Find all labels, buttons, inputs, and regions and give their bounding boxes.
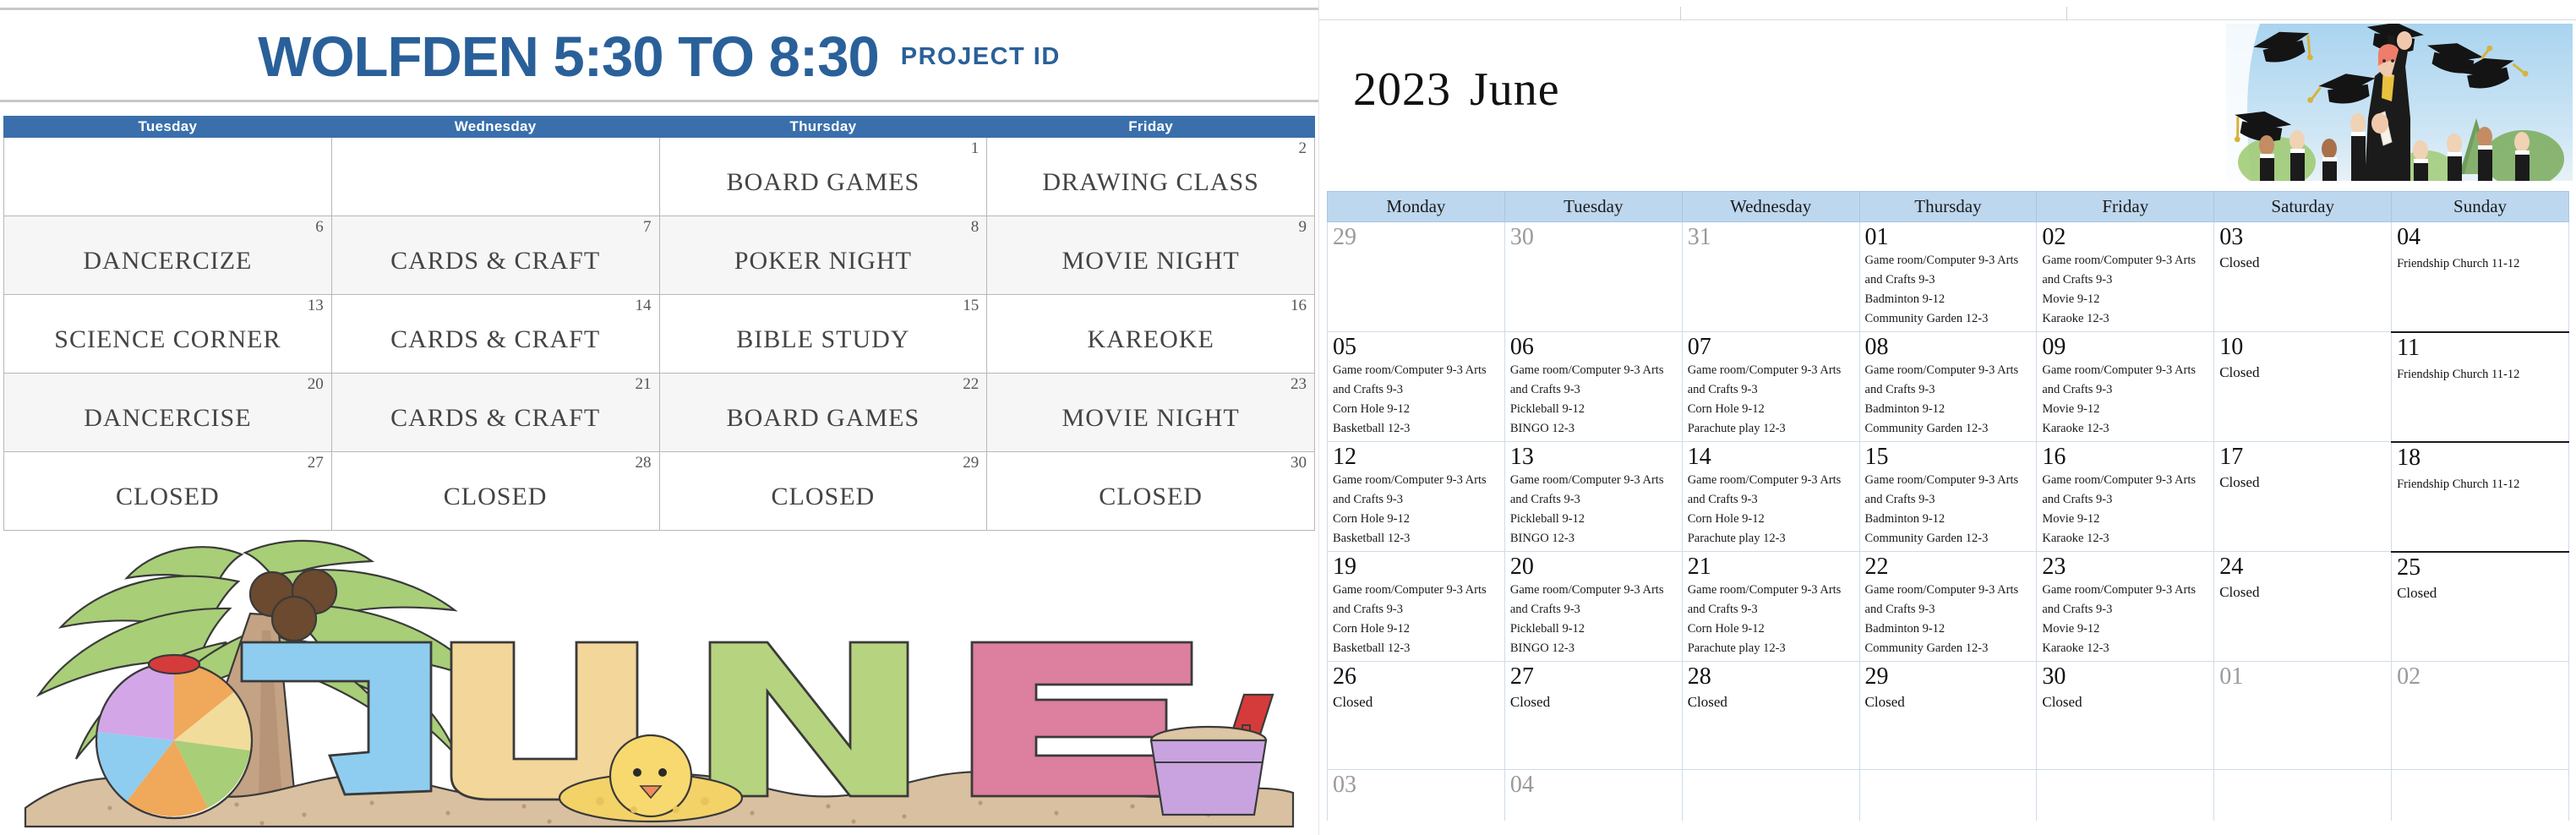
calendar-header-wednesday: Wednesday [1682, 192, 1859, 222]
calendar-day-cell[interactable]: 22Game room/Computer 9-3 Arts and Crafts… [1859, 552, 2037, 662]
activity-label: KAREOKE [987, 325, 1314, 354]
closed-label: Closed [2042, 694, 2208, 711]
calendar-week-row: 05Game room/Computer 9-3 Arts and Crafts… [1328, 332, 2569, 442]
calendar-header-saturday: Saturday [2214, 192, 2392, 222]
day-number: 2 [1299, 140, 1307, 156]
event-text: Movie 9-12 [2042, 619, 2208, 639]
event-text: Basketball 12-3 [1333, 639, 1499, 658]
day-number: 01 [2219, 664, 2386, 689]
day-cell[interactable]: 9MOVIE NIGHT [987, 216, 1315, 295]
event-text: Game room/Computer 9-3 Arts and Crafts 9… [1865, 471, 2032, 510]
day-number: 18 [2397, 445, 2563, 470]
activity-label: CARDS & CRAFT [332, 404, 659, 433]
day-cell[interactable]: 23MOVIE NIGHT [987, 374, 1315, 452]
event-text: Game room/Computer 9-3 Arts and Crafts 9… [1688, 471, 1854, 510]
day-cell[interactable]: 14CARDS & CRAFT [331, 295, 659, 374]
calendar-day-cell[interactable]: 30 [1504, 222, 1682, 332]
calendar-day-cell[interactable] [2214, 770, 2392, 821]
day-number: 25 [2397, 555, 2563, 580]
column-header-tuesday: Tuesday [4, 117, 332, 138]
event-note: Friendship Church 11-12 [2397, 257, 2563, 271]
event-text: Game room/Computer 9-3 Arts and Crafts 9… [1865, 361, 2032, 400]
day-number: 20 [1510, 554, 1677, 579]
day-number: 9 [1299, 219, 1307, 235]
day-cell[interactable]: 15BIBLE STUDY [659, 295, 987, 374]
sand-bucket-icon [1151, 695, 1273, 815]
calendar-week-row: 19Game room/Computer 9-3 Arts and Crafts… [1328, 552, 2569, 662]
day-number: 16 [1291, 297, 1307, 314]
event-text: Karaoke 12-3 [2042, 639, 2208, 658]
document-page: WOLFDEN 5:30 TO 8:30 PROJECT ID Tuesday … [0, 0, 2576, 835]
day-cell[interactable]: 6DANCERCIZE [4, 216, 332, 295]
day-number: 03 [2219, 225, 2386, 249]
day-number: 16 [2042, 445, 2208, 469]
event-text: Game room/Computer 9-3 Arts and Crafts 9… [1333, 361, 1499, 400]
activity-label: SCIENCE CORNER [4, 325, 331, 354]
flyer-title-row: WOLFDEN 5:30 TO 8:30 PROJECT ID [0, 19, 1318, 95]
event-text: Corn Hole 9-12 [1333, 510, 1499, 529]
day-number: 12 [1333, 445, 1499, 469]
calendar-day-cell[interactable]: 02Game room/Computer 9-3 Arts and Crafts… [2037, 222, 2214, 332]
event-text: Community Garden 12-3 [1865, 529, 2032, 548]
calendar-header-tuesday: Tuesday [1504, 192, 1682, 222]
calendar-day-cell[interactable] [1859, 770, 2037, 821]
day-number: 17 [2219, 445, 2386, 469]
closed-label: Closed [1688, 694, 1854, 711]
calendar-header-row: Monday Tuesday Wednesday Thursday Friday… [1328, 192, 2569, 222]
calendar-day-cell[interactable]: 06Game room/Computer 9-3 Arts and Crafts… [1504, 332, 1682, 442]
day-number: 01 [1865, 225, 2032, 249]
calendar-day-cell[interactable] [2037, 770, 2214, 821]
calendar-day-cell[interactable]: 07Game room/Computer 9-3 Arts and Crafts… [1682, 332, 1859, 442]
event-text: Karaoke 12-3 [2042, 309, 2208, 329]
day-number: 26 [1333, 664, 1499, 689]
event-text: Community Garden 12-3 [1865, 419, 2032, 439]
day-number: 11 [2397, 336, 2563, 360]
day-number: 06 [1510, 335, 1677, 359]
calendar-day-cell[interactable]: 30Closed [2037, 662, 2214, 770]
calendar-day-cell[interactable] [2392, 770, 2569, 821]
table-row: 6DANCERCIZE 7CARDS & CRAFT 8POKER NIGHT … [4, 216, 1315, 295]
event-text: Parachute play 12-3 [1688, 529, 1854, 548]
day-number: 31 [1688, 225, 1854, 249]
day-number: 10 [2219, 335, 2386, 359]
event-text: Game room/Computer 9-3 Arts and Crafts 9… [2042, 471, 2208, 510]
event-text: Pickleball 9-12 [1510, 400, 1677, 419]
table-row: 20DANCERCISE 21CARDS & CRAFT 22BOARD GAM… [4, 374, 1315, 452]
day-cell[interactable]: 27CLOSED [4, 452, 332, 531]
event-text: Movie 9-12 [2042, 510, 2208, 529]
day-number: 8 [971, 219, 980, 235]
calendar-header-thursday: Thursday [1859, 192, 2037, 222]
day-cell[interactable]: 29CLOSED [659, 452, 987, 531]
day-number: 6 [315, 219, 324, 235]
day-number: 14 [1688, 445, 1854, 469]
event-text: Karaoke 12-3 [2042, 529, 2208, 548]
calendar-day-cell[interactable]: 09Game room/Computer 9-3 Arts and Crafts… [2037, 332, 2214, 442]
event-text: Movie 9-12 [2042, 290, 2208, 309]
calendar-day-cell[interactable] [1682, 770, 1859, 821]
activity-label: MOVIE NIGHT [987, 404, 1314, 433]
calendar-day-cell[interactable]: 11Friendship Church 11-12 [2392, 332, 2569, 442]
grid-line [2066, 7, 2067, 20]
event-text: Parachute play 12-3 [1688, 639, 1854, 658]
day-number: 28 [636, 455, 652, 471]
calendar-header-friday: Friday [2037, 192, 2214, 222]
event-note: Friendship Church 11-12 [2397, 368, 2563, 382]
table-row: 1BOARD GAMES 2DRAWING CLASS [4, 138, 1315, 216]
calendar-day-cell[interactable]: 17Closed [2214, 442, 2392, 552]
june-beach-illustration [8, 529, 1314, 833]
event-text: Badminton 9-12 [1865, 290, 2032, 309]
day-number: 03 [1333, 772, 1499, 797]
day-number: 14 [636, 297, 652, 314]
calendar-day-cell[interactable]: 19Game room/Computer 9-3 Arts and Crafts… [1328, 552, 1505, 662]
closed-label: Closed [1333, 694, 1499, 711]
event-text: BINGO 12-3 [1510, 529, 1677, 548]
day-number: 13 [1510, 445, 1677, 469]
graduation-caps-image [2226, 24, 2573, 181]
event-text: Game room/Computer 9-3 Arts and Crafts 9… [1865, 581, 2032, 619]
activity-label: CARDS & CRAFT [332, 247, 659, 276]
day-number: 04 [1510, 772, 1677, 797]
activity-label: CLOSED [332, 483, 659, 511]
calendar-day-cell[interactable]: 27Closed [1504, 662, 1682, 770]
day-number: 28 [1688, 664, 1854, 689]
bottom-divider-rule [0, 100, 1318, 102]
day-number: 30 [2042, 664, 2208, 689]
day-number: 09 [2042, 335, 2208, 359]
day-cell[interactable]: 13SCIENCE CORNER [4, 295, 332, 374]
left-flyer-panel: WOLFDEN 5:30 TO 8:30 PROJECT ID Tuesday … [0, 0, 1318, 835]
june-2023-calendar: Monday Tuesday Wednesday Thursday Friday… [1327, 191, 2569, 821]
calendar-day-cell[interactable]: 25Closed [2392, 552, 2569, 662]
calendar-day-cell[interactable]: 21Game room/Computer 9-3 Arts and Crafts… [1682, 552, 1859, 662]
day-number: 27 [1510, 664, 1677, 689]
event-text: Badminton 9-12 [1865, 510, 2032, 529]
day-number: 7 [643, 219, 652, 235]
day-number: 21 [636, 376, 652, 392]
day-number: 15 [963, 297, 979, 314]
event-text: Parachute play 12-3 [1688, 419, 1854, 439]
closed-label: Closed [1510, 694, 1677, 711]
day-number: 29 [1333, 225, 1499, 249]
day-number: 05 [1333, 335, 1499, 359]
day-number: 04 [2397, 225, 2563, 249]
event-text: Game room/Computer 9-3 Arts and Crafts 9… [2042, 361, 2208, 400]
calendar-month: June [1470, 63, 1560, 116]
calendar-header-sunday: Sunday [2392, 192, 2569, 222]
event-text: Game room/Computer 9-3 Arts and Crafts 9… [2042, 581, 2208, 619]
day-number: 30 [1510, 225, 1677, 249]
day-number: 21 [1688, 554, 1854, 579]
table-row: 27CLOSED 28CLOSED 29CLOSED 30CLOSED [4, 452, 1315, 531]
page-subtitle: PROJECT ID [901, 43, 1061, 71]
calendar-day-cell[interactable]: 20Game room/Computer 9-3 Arts and Crafts… [1504, 552, 1682, 662]
calendar-day-cell[interactable]: 24Closed [2214, 552, 2392, 662]
event-text: Corn Hole 9-12 [1688, 400, 1854, 419]
table-row: 13SCIENCE CORNER 14CARDS & CRAFT 15BIBLE… [4, 295, 1315, 374]
day-cell[interactable]: 16KAREOKE [987, 295, 1315, 374]
calendar-day-cell[interactable]: 14Game room/Computer 9-3 Arts and Crafts… [1682, 442, 1859, 552]
calendar-day-cell[interactable]: 10Closed [2214, 332, 2392, 442]
activity-label: BIBLE STUDY [660, 325, 987, 354]
day-number: 24 [2219, 554, 2386, 579]
closed-label: Closed [2219, 474, 2386, 491]
activity-label: MOVIE NIGHT [987, 247, 1314, 276]
letter-N [710, 642, 908, 796]
calendar-day-cell[interactable]: 01 [2214, 662, 2392, 770]
activity-table-header-row: Tuesday Wednesday Thursday Friday [4, 117, 1315, 138]
calendar-header-monday: Monday [1328, 192, 1505, 222]
closed-label: Closed [2219, 364, 2386, 381]
day-number: 15 [1865, 445, 2032, 469]
event-text: Game room/Computer 9-3 Arts and Crafts 9… [1688, 361, 1854, 400]
event-text: Game room/Computer 9-3 Arts and Crafts 9… [2042, 251, 2208, 290]
activity-label: CLOSED [660, 483, 987, 511]
day-number: 22 [1865, 554, 2032, 579]
day-number: 13 [308, 297, 324, 314]
day-cell[interactable]: 7CARDS & CRAFT [331, 216, 659, 295]
event-text: BINGO 12-3 [1510, 639, 1677, 658]
right-calendar-panel: 2023June [1318, 0, 2576, 835]
calendar-week-row: 26Closed 27Closed 28Closed 29Closed 30Cl… [1328, 662, 2569, 770]
calendar-day-cell[interactable]: 13Game room/Computer 9-3 Arts and Crafts… [1504, 442, 1682, 552]
event-text: Corn Hole 9-12 [1688, 510, 1854, 529]
day-number: 29 [963, 455, 979, 471]
calendar-day-cell[interactable]: 18Friendship Church 11-12 [2392, 442, 2569, 552]
event-text: Game room/Computer 9-3 Arts and Crafts 9… [1333, 581, 1499, 619]
calendar-day-cell[interactable]: 08Game room/Computer 9-3 Arts and Crafts… [1859, 332, 2037, 442]
day-number: 27 [308, 455, 324, 471]
day-cell[interactable] [331, 138, 659, 216]
event-text: Badminton 9-12 [1865, 619, 2032, 639]
event-text: Karaoke 12-3 [2042, 419, 2208, 439]
calendar-day-cell[interactable]: 02 [2392, 662, 2569, 770]
calendar-day-cell[interactable]: 05Game room/Computer 9-3 Arts and Crafts… [1328, 332, 1505, 442]
calendar-year: 2023 [1353, 63, 1451, 116]
closed-label: Closed [2219, 254, 2386, 271]
closed-label: Closed [2397, 585, 2563, 602]
day-cell[interactable]: 28CLOSED [331, 452, 659, 531]
day-number: 22 [963, 376, 979, 392]
event-text: Corn Hole 9-12 [1333, 400, 1499, 419]
day-number: 23 [2042, 554, 2208, 579]
activity-label: CARDS & CRAFT [332, 325, 659, 354]
calendar-day-cell[interactable]: 01Game room/Computer 9-3 Arts and Crafts… [1859, 222, 2037, 332]
day-cell[interactable]: 20DANCERCISE [4, 374, 332, 452]
day-cell[interactable]: 22BOARD GAMES [659, 374, 987, 452]
calendar-day-cell[interactable]: 15Game room/Computer 9-3 Arts and Crafts… [1859, 442, 2037, 552]
calendar-title: 2023June [1353, 63, 1560, 117]
calendar-day-cell[interactable]: 04Friendship Church 11-12 [2392, 222, 2569, 332]
june-letters [242, 642, 1195, 800]
activity-label: DRAWING CLASS [987, 168, 1314, 197]
event-note: Friendship Church 11-12 [2397, 478, 2563, 492]
calendar-day-cell[interactable]: 03 [1328, 770, 1505, 821]
event-text: Pickleball 9-12 [1510, 619, 1677, 639]
event-text: Game room/Computer 9-3 Arts and Crafts 9… [1510, 361, 1677, 400]
calendar-day-cell[interactable]: 28Closed [1682, 662, 1859, 770]
calendar-day-cell[interactable]: 03Closed [2214, 222, 2392, 332]
event-text: Game room/Computer 9-3 Arts and Crafts 9… [1865, 251, 2032, 290]
calendar-week-row: 29 30 31 01Game room/Computer 9-3 Arts a… [1328, 222, 2569, 332]
event-text: Corn Hole 9-12 [1688, 619, 1854, 639]
day-number: 08 [1865, 335, 2032, 359]
activity-label: CLOSED [4, 483, 331, 511]
day-number: 1 [971, 140, 980, 156]
calendar-week-row-partial: 03 04 [1328, 770, 2569, 821]
day-number: 07 [1688, 335, 1854, 359]
event-text: Basketball 12-3 [1333, 529, 1499, 548]
activity-schedule-table: Tuesday Wednesday Thursday Friday 1BOARD… [3, 116, 1315, 531]
column-header-wednesday: Wednesday [331, 117, 659, 138]
day-number: 02 [2397, 664, 2563, 689]
event-text: BINGO 12-3 [1510, 419, 1677, 439]
activity-label: CLOSED [987, 483, 1314, 511]
calendar-day-cell[interactable]: 29Closed [1859, 662, 2037, 770]
activity-label: BOARD GAMES [660, 168, 987, 197]
day-number: 20 [308, 376, 324, 392]
calendar-day-cell[interactable]: 31 [1682, 222, 1859, 332]
closed-label: Closed [2219, 584, 2386, 601]
day-cell[interactable] [4, 138, 332, 216]
closed-label: Closed [1865, 694, 2032, 711]
activity-label: BOARD GAMES [660, 404, 987, 433]
event-text: Game room/Computer 9-3 Arts and Crafts 9… [1688, 581, 1854, 619]
partial-row-top [1319, 0, 2576, 20]
event-text: Game room/Computer 9-3 Arts and Crafts 9… [1333, 471, 1499, 510]
column-header-thursday: Thursday [659, 117, 987, 138]
calendar-day-cell[interactable]: 16Game room/Computer 9-3 Arts and Crafts… [2037, 442, 2214, 552]
event-text: Game room/Computer 9-3 Arts and Crafts 9… [1510, 471, 1677, 510]
event-text: Pickleball 9-12 [1510, 510, 1677, 529]
grid-line [1680, 7, 1681, 20]
calendar-day-cell[interactable]: 26Closed [1328, 662, 1505, 770]
day-number: 30 [1291, 455, 1307, 471]
event-text: Badminton 9-12 [1865, 400, 2032, 419]
day-number: 02 [2042, 225, 2208, 249]
day-number: 19 [1333, 554, 1499, 579]
day-cell[interactable]: 21CARDS & CRAFT [331, 374, 659, 452]
event-text: Basketball 12-3 [1333, 419, 1499, 439]
page-title: WOLFDEN 5:30 TO 8:30 [258, 29, 879, 85]
day-cell[interactable]: 30CLOSED [987, 452, 1315, 531]
calendar-day-cell[interactable]: 12Game room/Computer 9-3 Arts and Crafts… [1328, 442, 1505, 552]
activity-label: POKER NIGHT [660, 247, 987, 276]
day-number: 23 [1291, 376, 1307, 392]
calendar-day-cell[interactable]: 04 [1504, 770, 1682, 821]
event-text: Movie 9-12 [2042, 400, 2208, 419]
top-divider-rule [0, 8, 1318, 10]
activity-label: DANCERCIZE [4, 247, 331, 276]
calendar-week-row: 12Game room/Computer 9-3 Arts and Crafts… [1328, 442, 2569, 552]
day-cell[interactable]: 8POKER NIGHT [659, 216, 987, 295]
calendar-day-cell[interactable]: 23Game room/Computer 9-3 Arts and Crafts… [2037, 552, 2214, 662]
day-number: 29 [1865, 664, 2032, 689]
event-text: Game room/Computer 9-3 Arts and Crafts 9… [1510, 581, 1677, 619]
calendar-day-cell[interactable]: 29 [1328, 222, 1505, 332]
event-text: Community Garden 12-3 [1865, 309, 2032, 329]
column-header-friday: Friday [987, 117, 1315, 138]
activity-label: DANCERCISE [4, 404, 331, 433]
day-cell[interactable]: 1BOARD GAMES [659, 138, 987, 216]
day-cell[interactable]: 2DRAWING CLASS [987, 138, 1315, 216]
event-text: Corn Hole 9-12 [1333, 619, 1499, 639]
event-text: Community Garden 12-3 [1865, 639, 2032, 658]
